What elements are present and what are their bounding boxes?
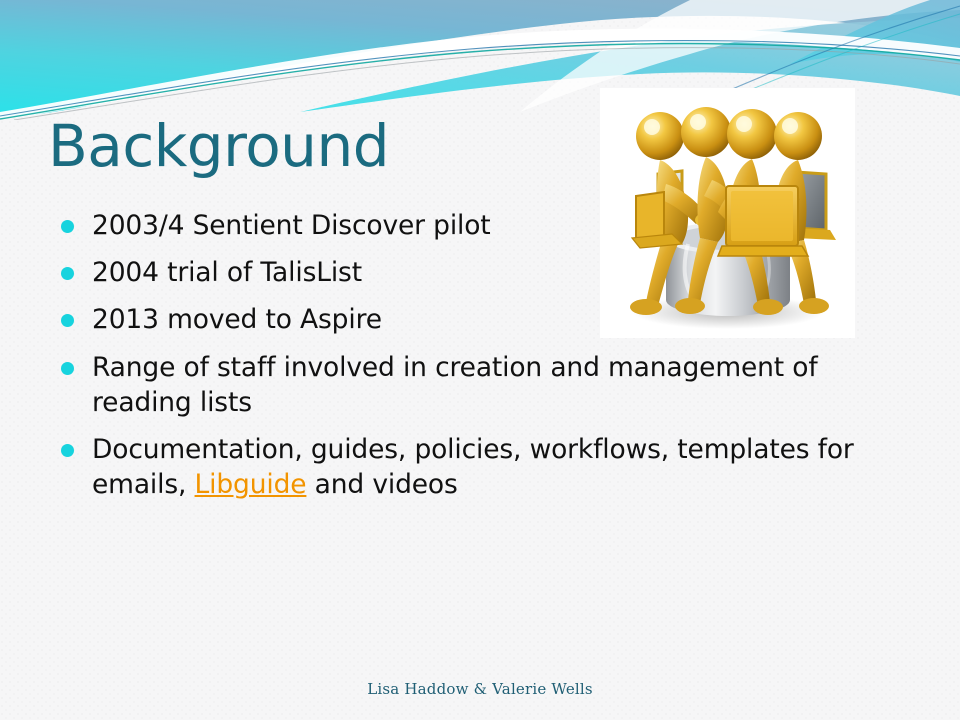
laptop-front-gold bbox=[718, 186, 808, 256]
slide-footer: Lisa Haddow & Valerie Wells bbox=[0, 680, 960, 698]
bullet-text-suffix: and videos bbox=[306, 469, 457, 500]
gold-figures-with-laptops-illustration bbox=[600, 88, 855, 338]
bullet-text: 2003/4 Sentient Discover pilot bbox=[92, 210, 491, 241]
bullet-marker-icon bbox=[61, 314, 74, 327]
libguide-link[interactable]: Libguide bbox=[195, 469, 307, 500]
footer-text: Lisa Haddow & Valerie Wells bbox=[367, 680, 593, 698]
bullet-marker-icon bbox=[61, 362, 74, 375]
bullet-text: 2013 moved to Aspire bbox=[92, 304, 382, 335]
bullet-marker-icon bbox=[61, 267, 74, 280]
bullet-text: 2004 trial of TalisList bbox=[92, 257, 362, 288]
bullet-text: Range of staff involved in creation and … bbox=[92, 352, 818, 418]
clipart-image bbox=[600, 88, 855, 338]
bullet-marker-icon bbox=[61, 444, 74, 457]
bullet-marker-icon bbox=[61, 220, 74, 233]
bullet-item-5: Documentation, guides, policies, workflo… bbox=[48, 432, 912, 502]
bullet-item-4: Range of staff involved in creation and … bbox=[48, 350, 912, 420]
slide-canvas: Background 2003/4 Sentient Discover pilo… bbox=[0, 0, 960, 720]
slide-title: Background bbox=[48, 116, 389, 177]
